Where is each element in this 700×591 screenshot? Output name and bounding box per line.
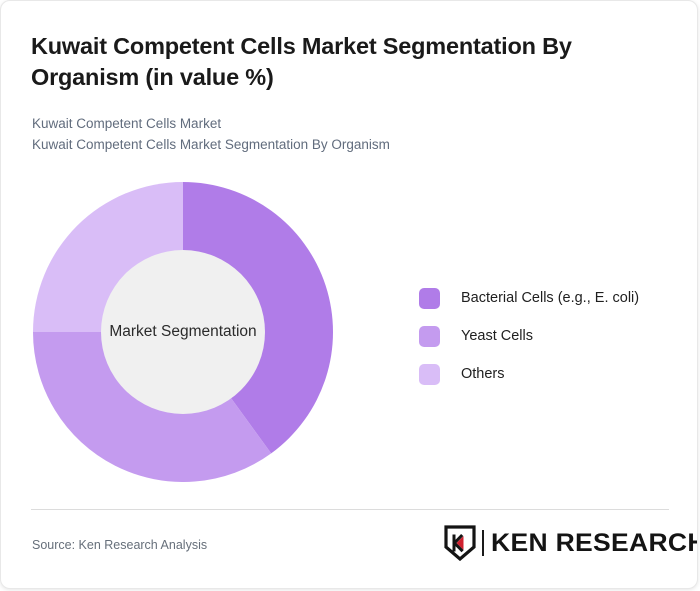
subtitle-segmentation: Kuwait Competent Cells Market Segmentati… [32, 135, 390, 155]
legend-swatch-icon [419, 364, 440, 385]
donut-chart: Market Segmentation [33, 182, 333, 482]
ken-research-logo: KEN RESEARCH [444, 523, 695, 563]
legend-item[interactable]: Bacterial Cells (e.g., E. coli) [419, 279, 639, 317]
legend-item-label: Others [461, 366, 505, 382]
donut-hole [101, 250, 265, 414]
brand-wordmark: KEN RESEARCH [491, 529, 698, 558]
shield-k-icon [444, 525, 476, 561]
legend-item[interactable]: Yeast Cells [419, 317, 639, 355]
chart-legend: Bacterial Cells (e.g., E. coli)Yeast Cel… [419, 279, 639, 393]
legend-item[interactable]: Others [419, 355, 639, 393]
footer-divider [31, 509, 669, 510]
page-title: Kuwait Competent Cells Market Segmentati… [31, 31, 643, 92]
subtitle-market: Kuwait Competent Cells Market [32, 114, 221, 134]
brand-divider [482, 530, 484, 556]
legend-swatch-icon [419, 326, 440, 347]
source-note: Source: Ken Research Analysis [32, 538, 207, 552]
legend-swatch-icon [419, 288, 440, 309]
donut-chart-svg [33, 182, 333, 482]
legend-item-label: Yeast Cells [461, 328, 533, 344]
legend-item-label: Bacterial Cells (e.g., E. coli) [461, 290, 639, 306]
chart-card: Kuwait Competent Cells Market Segmentati… [0, 0, 698, 589]
